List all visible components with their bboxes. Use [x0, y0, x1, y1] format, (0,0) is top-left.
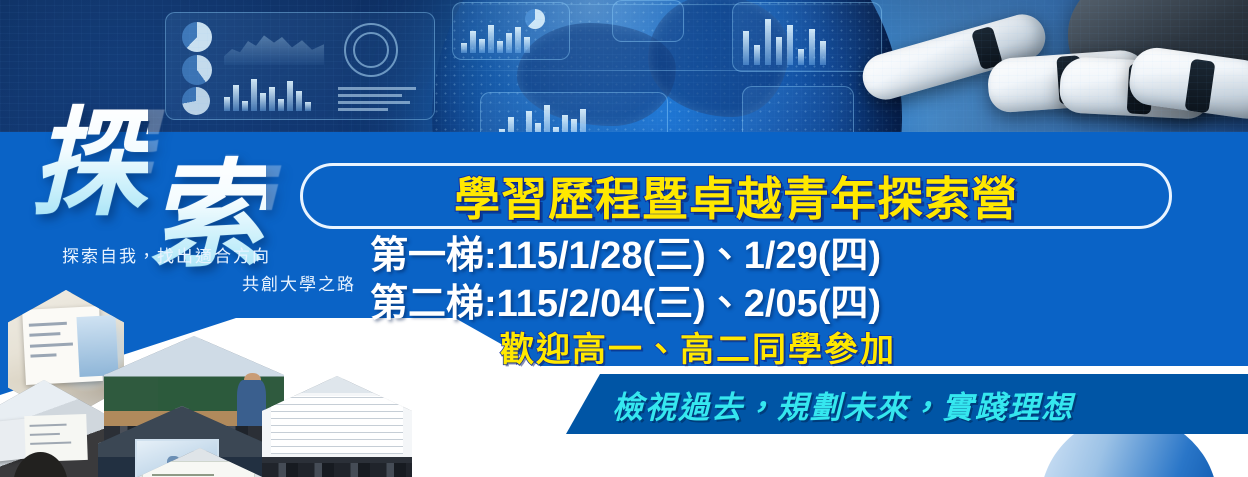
- slogan-text: 檢視過去，規劃未來，實踐理想: [612, 382, 1074, 427]
- photo-collage: [0, 288, 520, 477]
- poster-city-art: [76, 315, 119, 377]
- event-title: 學習歷程暨卓越青年探索營: [454, 163, 1018, 229]
- brand-logo: 探 索: [30, 104, 330, 254]
- robot-knuckle: [971, 26, 1003, 71]
- globe-landmass: [517, 23, 677, 126]
- bar-chart-graphic: [461, 21, 530, 53]
- hud-dashboard-right: [732, 2, 882, 72]
- pie-chart-icon: [182, 55, 212, 85]
- globe-latitude-line: [432, 4, 902, 5]
- robot-knuckle: [1127, 63, 1154, 114]
- globe-landmass: [648, 0, 789, 117]
- welcome-line: 歡迎高一、高二同學參加: [500, 322, 896, 371]
- robot-knuckle: [1056, 55, 1083, 105]
- area-chart-graphic: [224, 25, 324, 65]
- robot-finger-index: [857, 9, 1050, 105]
- pie-chart-icon: [525, 9, 545, 29]
- photo-image: [262, 376, 412, 477]
- event-title-pill: 學習歷程暨卓越青年探索營: [300, 163, 1172, 229]
- robot-finger-ring: [1059, 56, 1212, 120]
- radar-ring-graphic: [353, 32, 389, 68]
- candlestick-chart-graphic: [743, 13, 826, 65]
- slogan-banner: 檢視過去，規劃未來，實踐理想: [566, 374, 1248, 434]
- globe-latitude-line: [432, 70, 902, 71]
- logo-char-1: 探: [30, 104, 148, 222]
- pie-chart-icon: [182, 22, 212, 52]
- robot-finger-middle: [986, 48, 1151, 113]
- hud-dashboard-top: [452, 2, 570, 60]
- audience-row: [262, 463, 412, 477]
- robot-palm: [1068, 0, 1248, 112]
- session-date-1: 第一梯:115/1/28(三)、1/29(四): [370, 232, 881, 280]
- hud-text-lines: [338, 87, 416, 111]
- spreadsheet-grid: [271, 396, 403, 455]
- event-banner: 探 索 探索自我，找出適合方向 共創大學之路 學習歷程暨卓越青年探索營 第一梯:…: [0, 0, 1248, 477]
- collage-photo-spreadsheet-screen: [262, 376, 412, 477]
- robot-knuckle: [1184, 59, 1215, 114]
- hud-panel-small: [612, 0, 684, 42]
- robot-finger-pinky: [1127, 45, 1248, 122]
- tagline-line-1: 探索自我，找出適合方向: [62, 247, 271, 267]
- radar-ring-graphic: [344, 23, 398, 77]
